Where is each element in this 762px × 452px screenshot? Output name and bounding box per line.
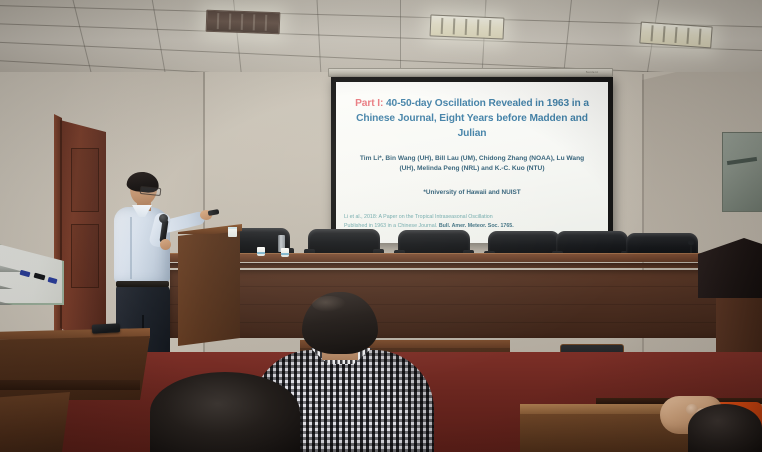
slide-author-list: Tim Li*, Bin Wang (UH), Bill Lau (UM), C… (352, 154, 592, 173)
laser-pointer[interactable] (208, 209, 220, 216)
audience-hair-highlight (312, 296, 346, 312)
audience-member-left-head (150, 372, 300, 452)
presentation-slide: Part I: 40-50-day Oscillation Revealed i… (336, 82, 608, 243)
suspended-ceiling (0, 0, 762, 72)
presenter-shirt-placket (130, 217, 132, 279)
left-desk-lower (0, 392, 70, 452)
slide-affiliation: *University of Hawaii and NUIST (352, 189, 592, 196)
head-table-lip (170, 263, 762, 268)
citation-journal-name: Bull. Amer. Meteor. Soc. (439, 223, 499, 229)
audience-member-right-head (688, 404, 762, 452)
screen-brand-label: Sunlent (586, 70, 598, 74)
photo-scene: Sunlent Part I: 40-50-day Oscillation Re… (0, 0, 762, 452)
presenter-left-hand (160, 239, 171, 250)
smartphone-on-desk[interactable] (92, 323, 120, 333)
ceiling-light-center (430, 14, 505, 39)
paper-cup[interactable] (281, 248, 289, 257)
slide-title: Part I: 40-50-day Oscillation Revealed i… (352, 96, 592, 141)
paper-cup[interactable] (257, 247, 265, 256)
slide-title-rest: 40-50-day Oscillation Revealed in 1963 i… (356, 98, 589, 139)
slide-citation: Li et al., 2018: A Paper on the Tropical… (344, 213, 602, 230)
projection-screen: Part I: 40-50-day Oscillation Revealed i… (331, 77, 613, 243)
left-desk (0, 336, 150, 400)
citation-line-1: Li et al., 2018: A Paper on the Tropical… (344, 213, 602, 222)
projector-screen-housing: Sunlent (328, 68, 613, 77)
ceiling-light-left (206, 10, 281, 35)
slide-title-part-label: Part I: (355, 98, 383, 109)
citation-pages: 1765. (499, 223, 514, 229)
citation-journal-prefix: Published in 1963 in a Chinese Journal. (344, 223, 439, 229)
cup-on-podium[interactable] (228, 227, 237, 237)
presenter-belt (116, 281, 169, 287)
left-desk-shelf (0, 380, 140, 390)
wall-mounted-panel (722, 132, 762, 212)
screen-surface: Part I: 40-50-day Oscillation Revealed i… (336, 82, 608, 243)
citation-line-2: Published in 1963 in a Chinese Journal. … (344, 222, 602, 231)
